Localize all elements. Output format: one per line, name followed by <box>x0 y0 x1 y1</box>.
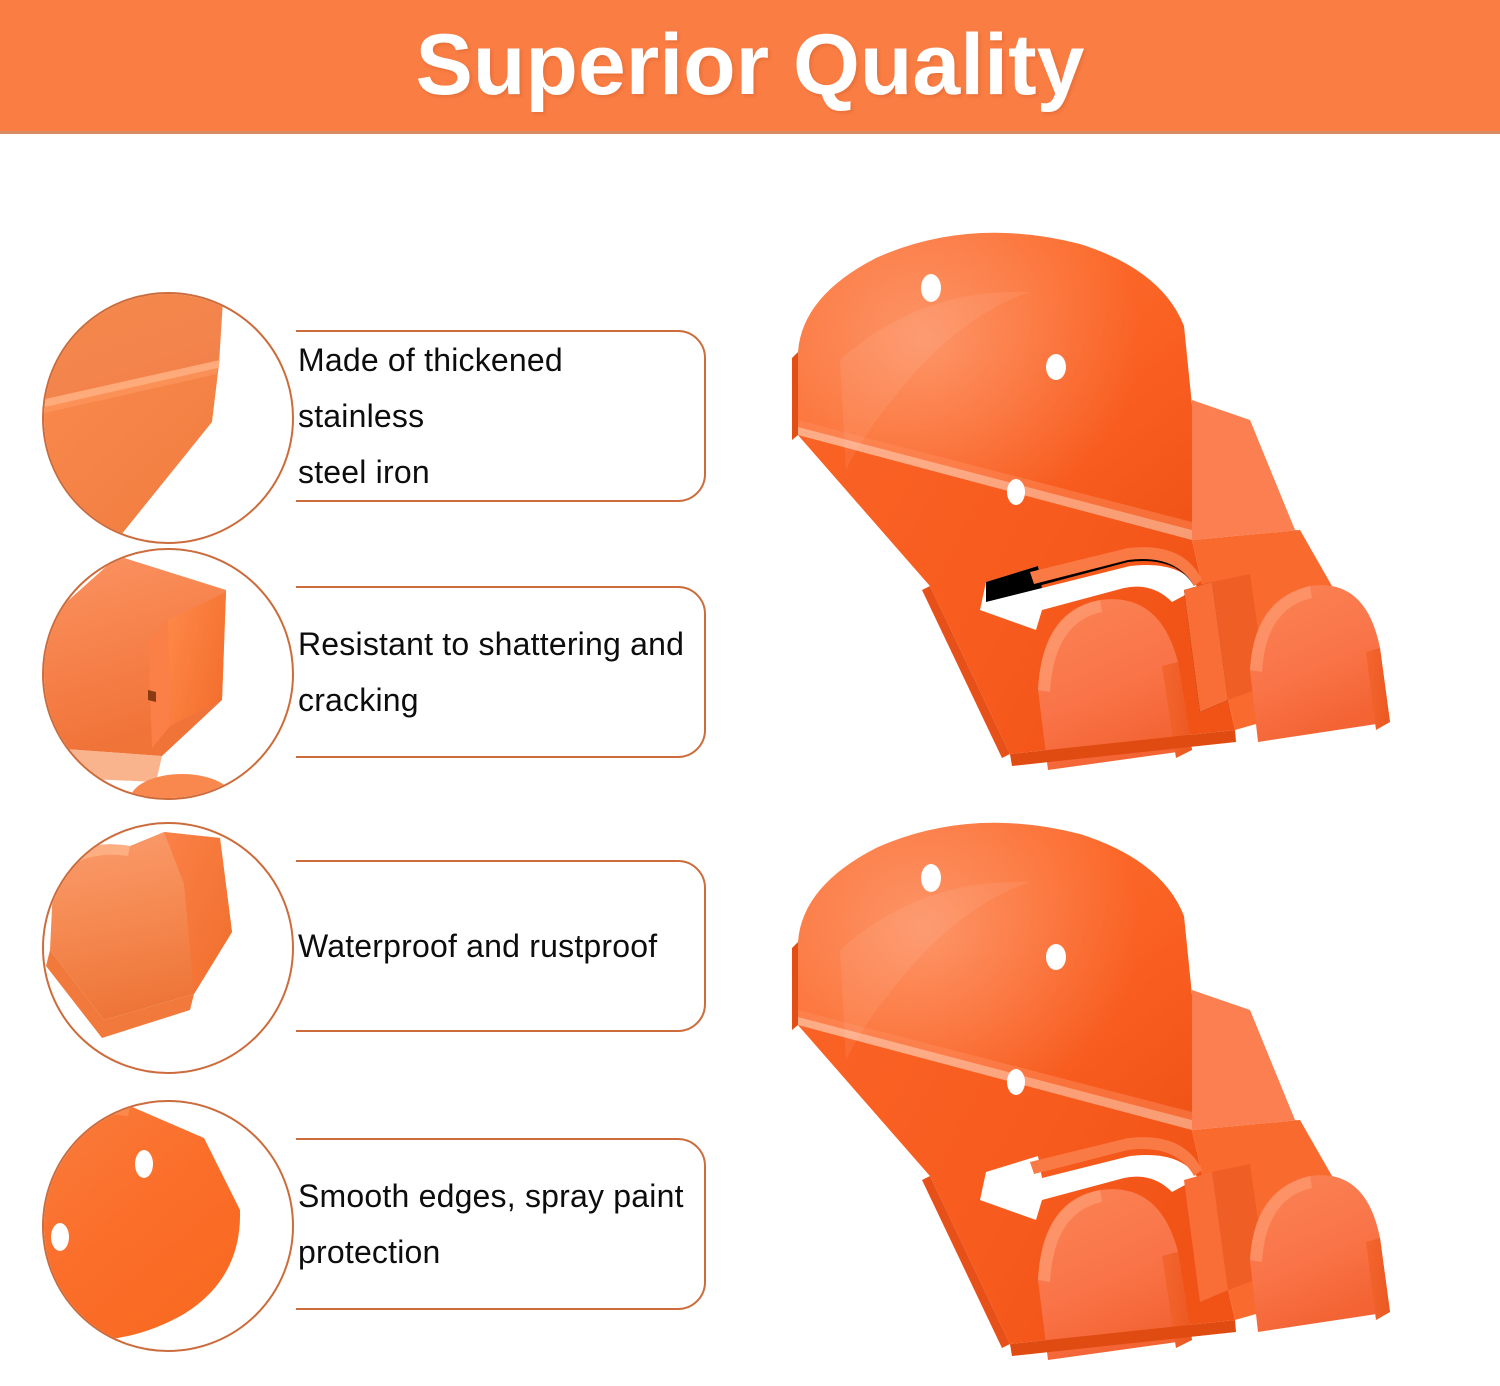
product-infographic: Superior Quality <box>0 0 1500 1386</box>
mounting-hole <box>1007 1069 1025 1095</box>
feature-row-durability: Resistant to shattering and cracking <box>0 548 760 808</box>
bracket-prong-right <box>1250 1175 1390 1332</box>
feature-line: Resistant to shattering and <box>298 616 698 672</box>
feature-row-material: Made of thickened stainless steel iron <box>0 292 760 552</box>
mounting-hole <box>921 864 941 892</box>
header-banner: Superior Quality <box>0 0 1500 134</box>
feature-detail-circle <box>42 292 294 544</box>
feature-row-weatherproof: Waterproof and rustproof <box>0 822 760 1082</box>
wall-mount-bracket-illustration <box>780 230 1480 790</box>
feature-line: steel iron <box>298 444 698 500</box>
feature-text-weatherproof: Waterproof and rustproof <box>298 860 698 1032</box>
bracket-prong-detail-icon <box>44 550 292 798</box>
bracket-prong-right <box>1250 585 1390 742</box>
bracket-rounded-prong-detail-icon <box>44 824 292 1072</box>
mounting-hole <box>1007 479 1025 505</box>
wall-mount-bracket-illustration <box>780 820 1480 1380</box>
page-title: Superior Quality <box>0 0 1500 131</box>
mounting-hole <box>921 274 941 302</box>
feature-line: Smooth edges, spray paint <box>298 1168 698 1224</box>
bracket-backplate-holes-detail-icon <box>44 1102 292 1350</box>
feature-detail-circle <box>42 548 294 800</box>
mounting-hole <box>1046 944 1066 970</box>
mounting-hole <box>1046 354 1066 380</box>
feature-line: Waterproof and rustproof <box>298 926 698 966</box>
feature-detail-circle <box>42 1100 294 1352</box>
feature-line: protection <box>298 1224 698 1280</box>
feature-line: cracking <box>298 672 698 728</box>
feature-row-finish: Smooth edges, spray paint protection <box>0 1100 760 1360</box>
feature-detail-circle <box>42 822 294 1074</box>
feature-text-material: Made of thickened stainless steel iron <box>298 330 698 502</box>
feature-line: Made of thickened stainless <box>298 332 698 444</box>
product-photo-top <box>780 230 1480 790</box>
bracket-corner-edge-detail-icon <box>44 294 292 542</box>
feature-text-finish: Smooth edges, spray paint protection <box>298 1138 698 1310</box>
feature-text-durability: Resistant to shattering and cracking <box>298 586 698 758</box>
product-photo-bottom <box>780 820 1480 1380</box>
